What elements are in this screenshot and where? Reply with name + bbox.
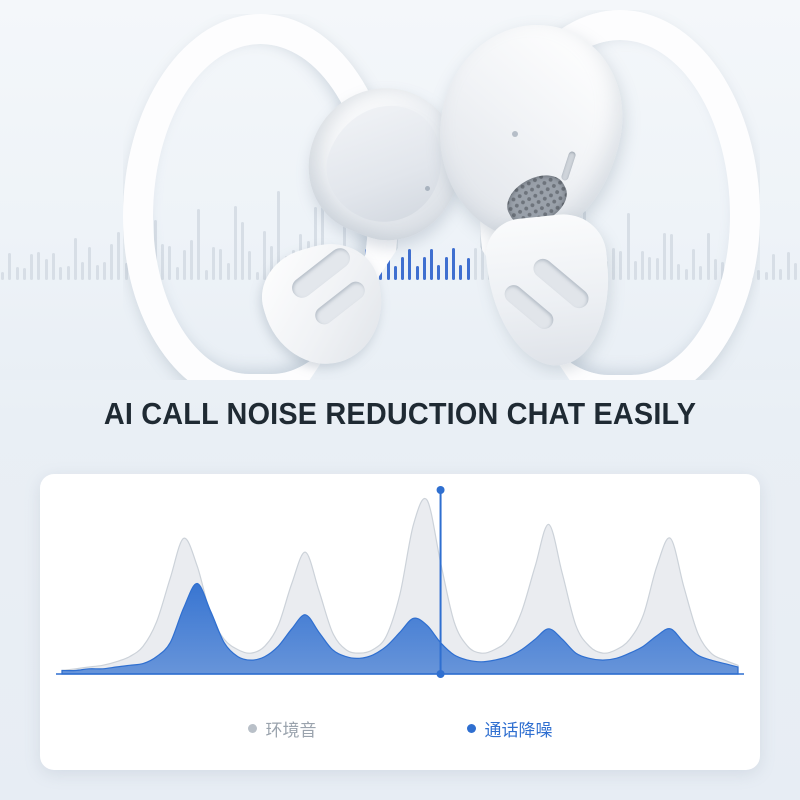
legend-label-call-noise-reduction: 通话降噪 — [485, 716, 553, 741]
page-title: AI CALL NOISE REDUCTION CHAT EASILY — [28, 396, 772, 432]
chart-marker-bottom-dot — [437, 670, 445, 678]
chart-marker-top-dot — [437, 486, 445, 494]
waveform-comparison-chart — [40, 474, 760, 714]
product-hero-image — [0, 0, 800, 380]
legend-dot-ambient-sound — [248, 724, 257, 733]
promo-page: AI CALL NOISE REDUCTION CHAT EASILY 环境音 … — [0, 0, 800, 800]
legend-label-ambient-sound: 环境音 — [266, 716, 317, 741]
earbud-left — [115, 8, 385, 358]
chart-legend: 环境音 通话降噪 — [40, 706, 760, 750]
legend-dot-call-noise-reduction — [467, 724, 476, 733]
legend-item-call-noise-reduction: 通话降噪 — [467, 716, 553, 741]
earbud-right-mic-hole — [512, 131, 518, 137]
noise-reduction-chart-card: 环境音 通话降噪 — [40, 474, 760, 770]
earbud-right — [420, 6, 710, 361]
legend-item-ambient-sound: 环境音 — [248, 716, 317, 741]
chart-area — [40, 474, 760, 714]
